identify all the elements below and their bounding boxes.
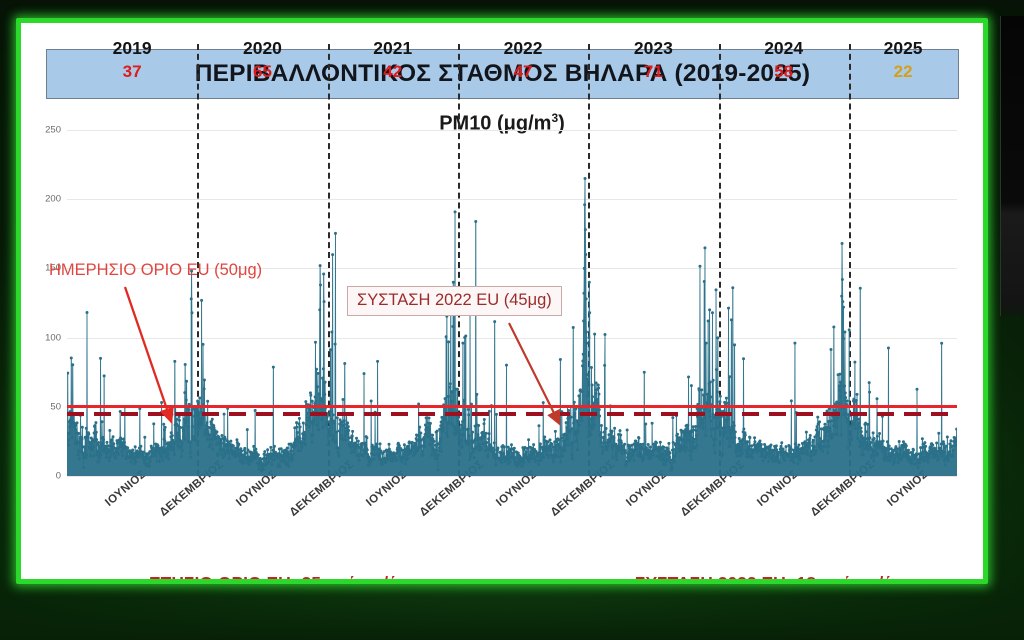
annotation-recommendation-arrow: [501, 319, 571, 437]
exceedance-count-2019: 37: [123, 62, 142, 82]
exceedance-count-2020: 65: [253, 62, 272, 82]
y-axis-tick-0: 0: [33, 471, 61, 482]
year-label-2020: 2020: [243, 38, 282, 59]
presentation-slide: ΠΕΡΙΒΑΛΛΟΝΤΙΚΟΣ ΣΤΑΘΜΟΣ ΒΗΛΑΡΑ (2019-202…: [21, 23, 983, 579]
year-label-2024: 2024: [764, 38, 803, 59]
y-axis-tick-100: 100: [33, 332, 61, 343]
annotation-daily-limit: ΗΜΕΡΗΣΙΟ ΟΡΙΟ EU (50μg): [49, 261, 262, 280]
y-axis-tick-50: 50: [33, 401, 61, 412]
y-axis-tick-200: 200: [33, 194, 61, 205]
exceedance-count-2022: 47: [514, 62, 533, 82]
annotation-daily-limit-arrow: [121, 281, 181, 436]
footer-recommendation: ΣΥΣΤΑΣΗ 2022 EU: 18 ημέρες/έτος: [635, 573, 918, 579]
footer-annual-limit: ΕΤΗΣΙΟ ΟΡΙΟ EU: 35 ημέρες/έτος: [149, 573, 423, 579]
exceedance-count-2023: 71: [644, 62, 663, 82]
year-label-2021: 2021: [373, 38, 412, 59]
annotation-recommendation: ΣΥΣΤΑΣΗ 2022 EU (45μg): [347, 286, 562, 316]
year-label-2022: 2022: [504, 38, 543, 59]
year-label-2025: 2025: [884, 38, 923, 59]
exceedance-count-2025: 22: [894, 62, 913, 82]
exceedance-count-2021: 42: [383, 62, 402, 82]
y-axis-tick-250: 250: [33, 125, 61, 136]
right-edge-panel: [1000, 16, 1024, 316]
year-label-2019: 2019: [113, 38, 152, 59]
exceedance-count-2024: 58: [774, 62, 793, 82]
year-label-2023: 2023: [634, 38, 673, 59]
slide-title-box: ΠΕΡΙΒΑΛΛΟΝΤΙΚΟΣ ΣΤΑΘΜΟΣ ΒΗΛΑΡΑ (2019-202…: [46, 49, 959, 99]
